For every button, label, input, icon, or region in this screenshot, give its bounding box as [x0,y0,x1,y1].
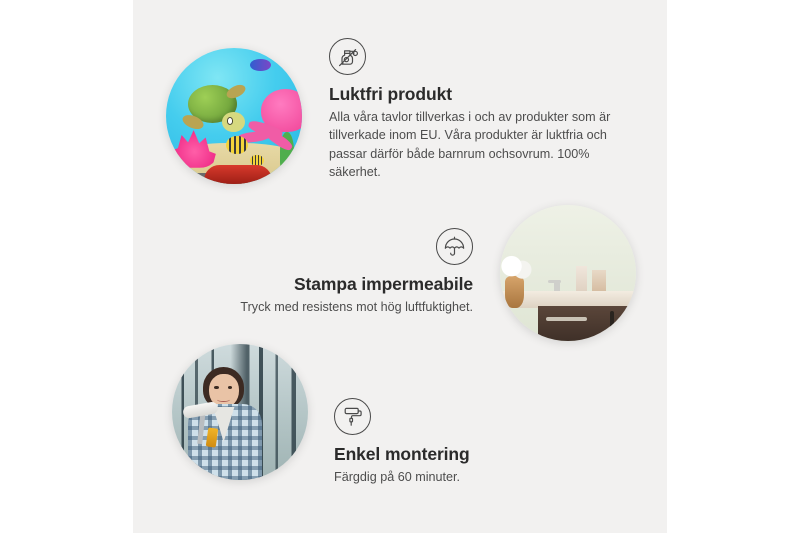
feature-body: Tryck med resistens mot hög luftfuktighe… [190,298,473,316]
feature-title: Enkel montering [334,444,594,465]
turtle-head-shape [222,112,245,132]
underwater-kids-mural-photo [166,48,302,184]
umbrella-icon [436,228,473,265]
white-flowers-shape [500,254,533,281]
wooden-vanity-shape [538,306,636,341]
woman-paint-roller-forest-photo [172,344,308,480]
promo-panel: Luktfri produkt Alla våra tavlor tillver… [0,0,800,533]
no-odour-perfume-bottle-icon [329,38,366,75]
feature-easy-mounting: Enkel montering Färgdig på 60 minuter. [334,398,594,486]
feature-waterproof: Stampa impermeabile Tryck med resistens … [190,228,473,316]
yellow-fish-shape [226,136,248,154]
feature-title: Luktfri produkt [329,84,619,105]
cabinet-handle-shape [610,311,614,335]
paint-roller-icon [334,398,371,435]
feature-body: Färgdig på 60 minuter. [334,468,594,486]
feature-body: Alla våra tavlor tillverkas i och av pro… [329,108,619,181]
feature-odourless: Luktfri produkt Alla våra tavlor tillver… [329,38,619,181]
feature-title: Stampa impermeabile [190,274,473,295]
blue-fish-shape [250,59,270,71]
eye-shape [214,386,218,389]
bathroom-tropical-wallpaper-photo [500,205,636,341]
drawer-pull-shape [546,317,587,321]
red-car-shape [204,165,272,184]
